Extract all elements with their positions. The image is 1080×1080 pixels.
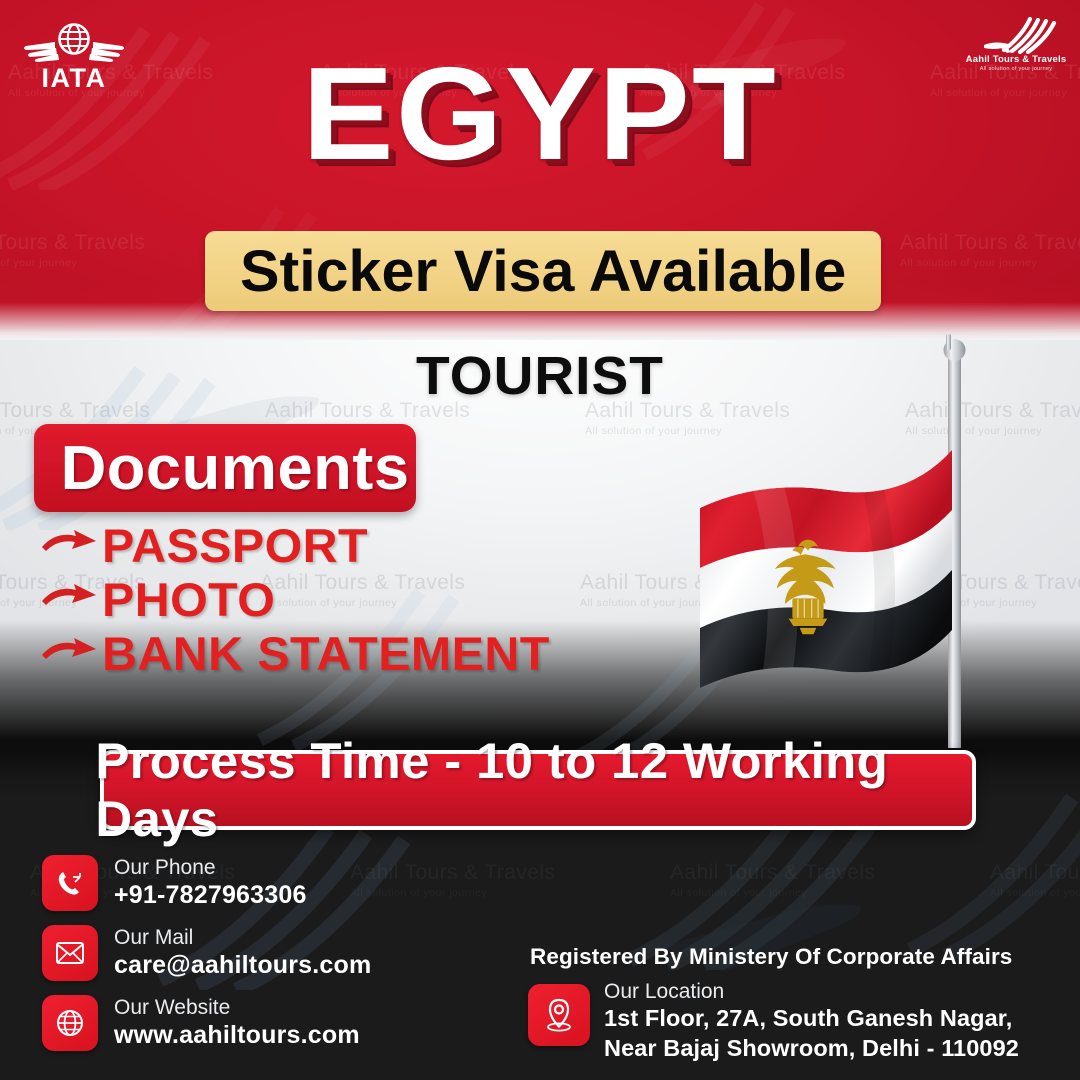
documents-list: PASSPORT PHOTO BANK STATEMENT xyxy=(40,520,510,682)
document-label: PASSPORT xyxy=(102,518,368,573)
contact-label: Our Phone xyxy=(114,856,307,880)
sticker-visa-banner: Sticker Visa Available xyxy=(205,231,881,311)
mail-icon xyxy=(42,925,98,981)
contact-row-mail[interactable]: Our Mail care@aahiltours.com xyxy=(42,925,512,981)
globe-icon xyxy=(42,995,98,1051)
documents-heading-badge: Documents xyxy=(34,424,416,512)
contact-label: Our Website xyxy=(114,996,360,1020)
list-item: PASSPORT xyxy=(40,520,510,570)
contact-list: Our Phone +91-7827963306 Our Mail care@a… xyxy=(42,855,512,1065)
sticker-visa-label: Sticker Visa Available xyxy=(240,238,846,305)
contact-value-phone: +91-7827963306 xyxy=(114,880,307,910)
curved-arrow-icon xyxy=(40,527,102,563)
document-label: PHOTO xyxy=(102,572,275,627)
egypt-flag xyxy=(690,330,1080,750)
curved-arrow-icon xyxy=(40,581,102,617)
location-address-line2: Near Bajaj Showroom, Delhi - 110092 xyxy=(604,1033,1019,1063)
list-item: BANK STATEMENT xyxy=(40,628,510,678)
location-block: Our Location 1st Floor, 27A, South Ganes… xyxy=(528,980,1019,1063)
visa-promo-poster: Aahil Tours & Travels All solution of yo… xyxy=(0,0,1080,1080)
page-title-country: EGYPT xyxy=(0,48,1080,180)
contact-label: Our Mail xyxy=(114,926,371,950)
documents-heading-label: Documents xyxy=(61,433,410,504)
location-address-line1: 1st Floor, 27A, South Ganesh Nagar, xyxy=(604,1003,1019,1033)
process-time-banner: Process Time - 10 to 12 Working Days xyxy=(100,750,976,830)
contact-value-website: www.aahiltours.com xyxy=(114,1020,360,1050)
phone-icon xyxy=(42,855,98,911)
document-label: BANK STATEMENT xyxy=(102,626,550,681)
contact-row-phone[interactable]: Our Phone +91-7827963306 xyxy=(42,855,512,911)
process-time-label: Process Time - 10 to 12 Working Days xyxy=(95,732,980,848)
map-pin-icon xyxy=(528,984,590,1046)
registration-note: Registered By Ministery Of Corporate Aff… xyxy=(530,944,1012,970)
contact-row-website[interactable]: Our Website www.aahiltours.com xyxy=(42,995,512,1051)
contact-value-mail: care@aahiltours.com xyxy=(114,950,371,980)
curved-arrow-icon xyxy=(40,635,102,671)
location-label: Our Location xyxy=(604,980,1019,1003)
list-item: PHOTO xyxy=(40,574,510,624)
